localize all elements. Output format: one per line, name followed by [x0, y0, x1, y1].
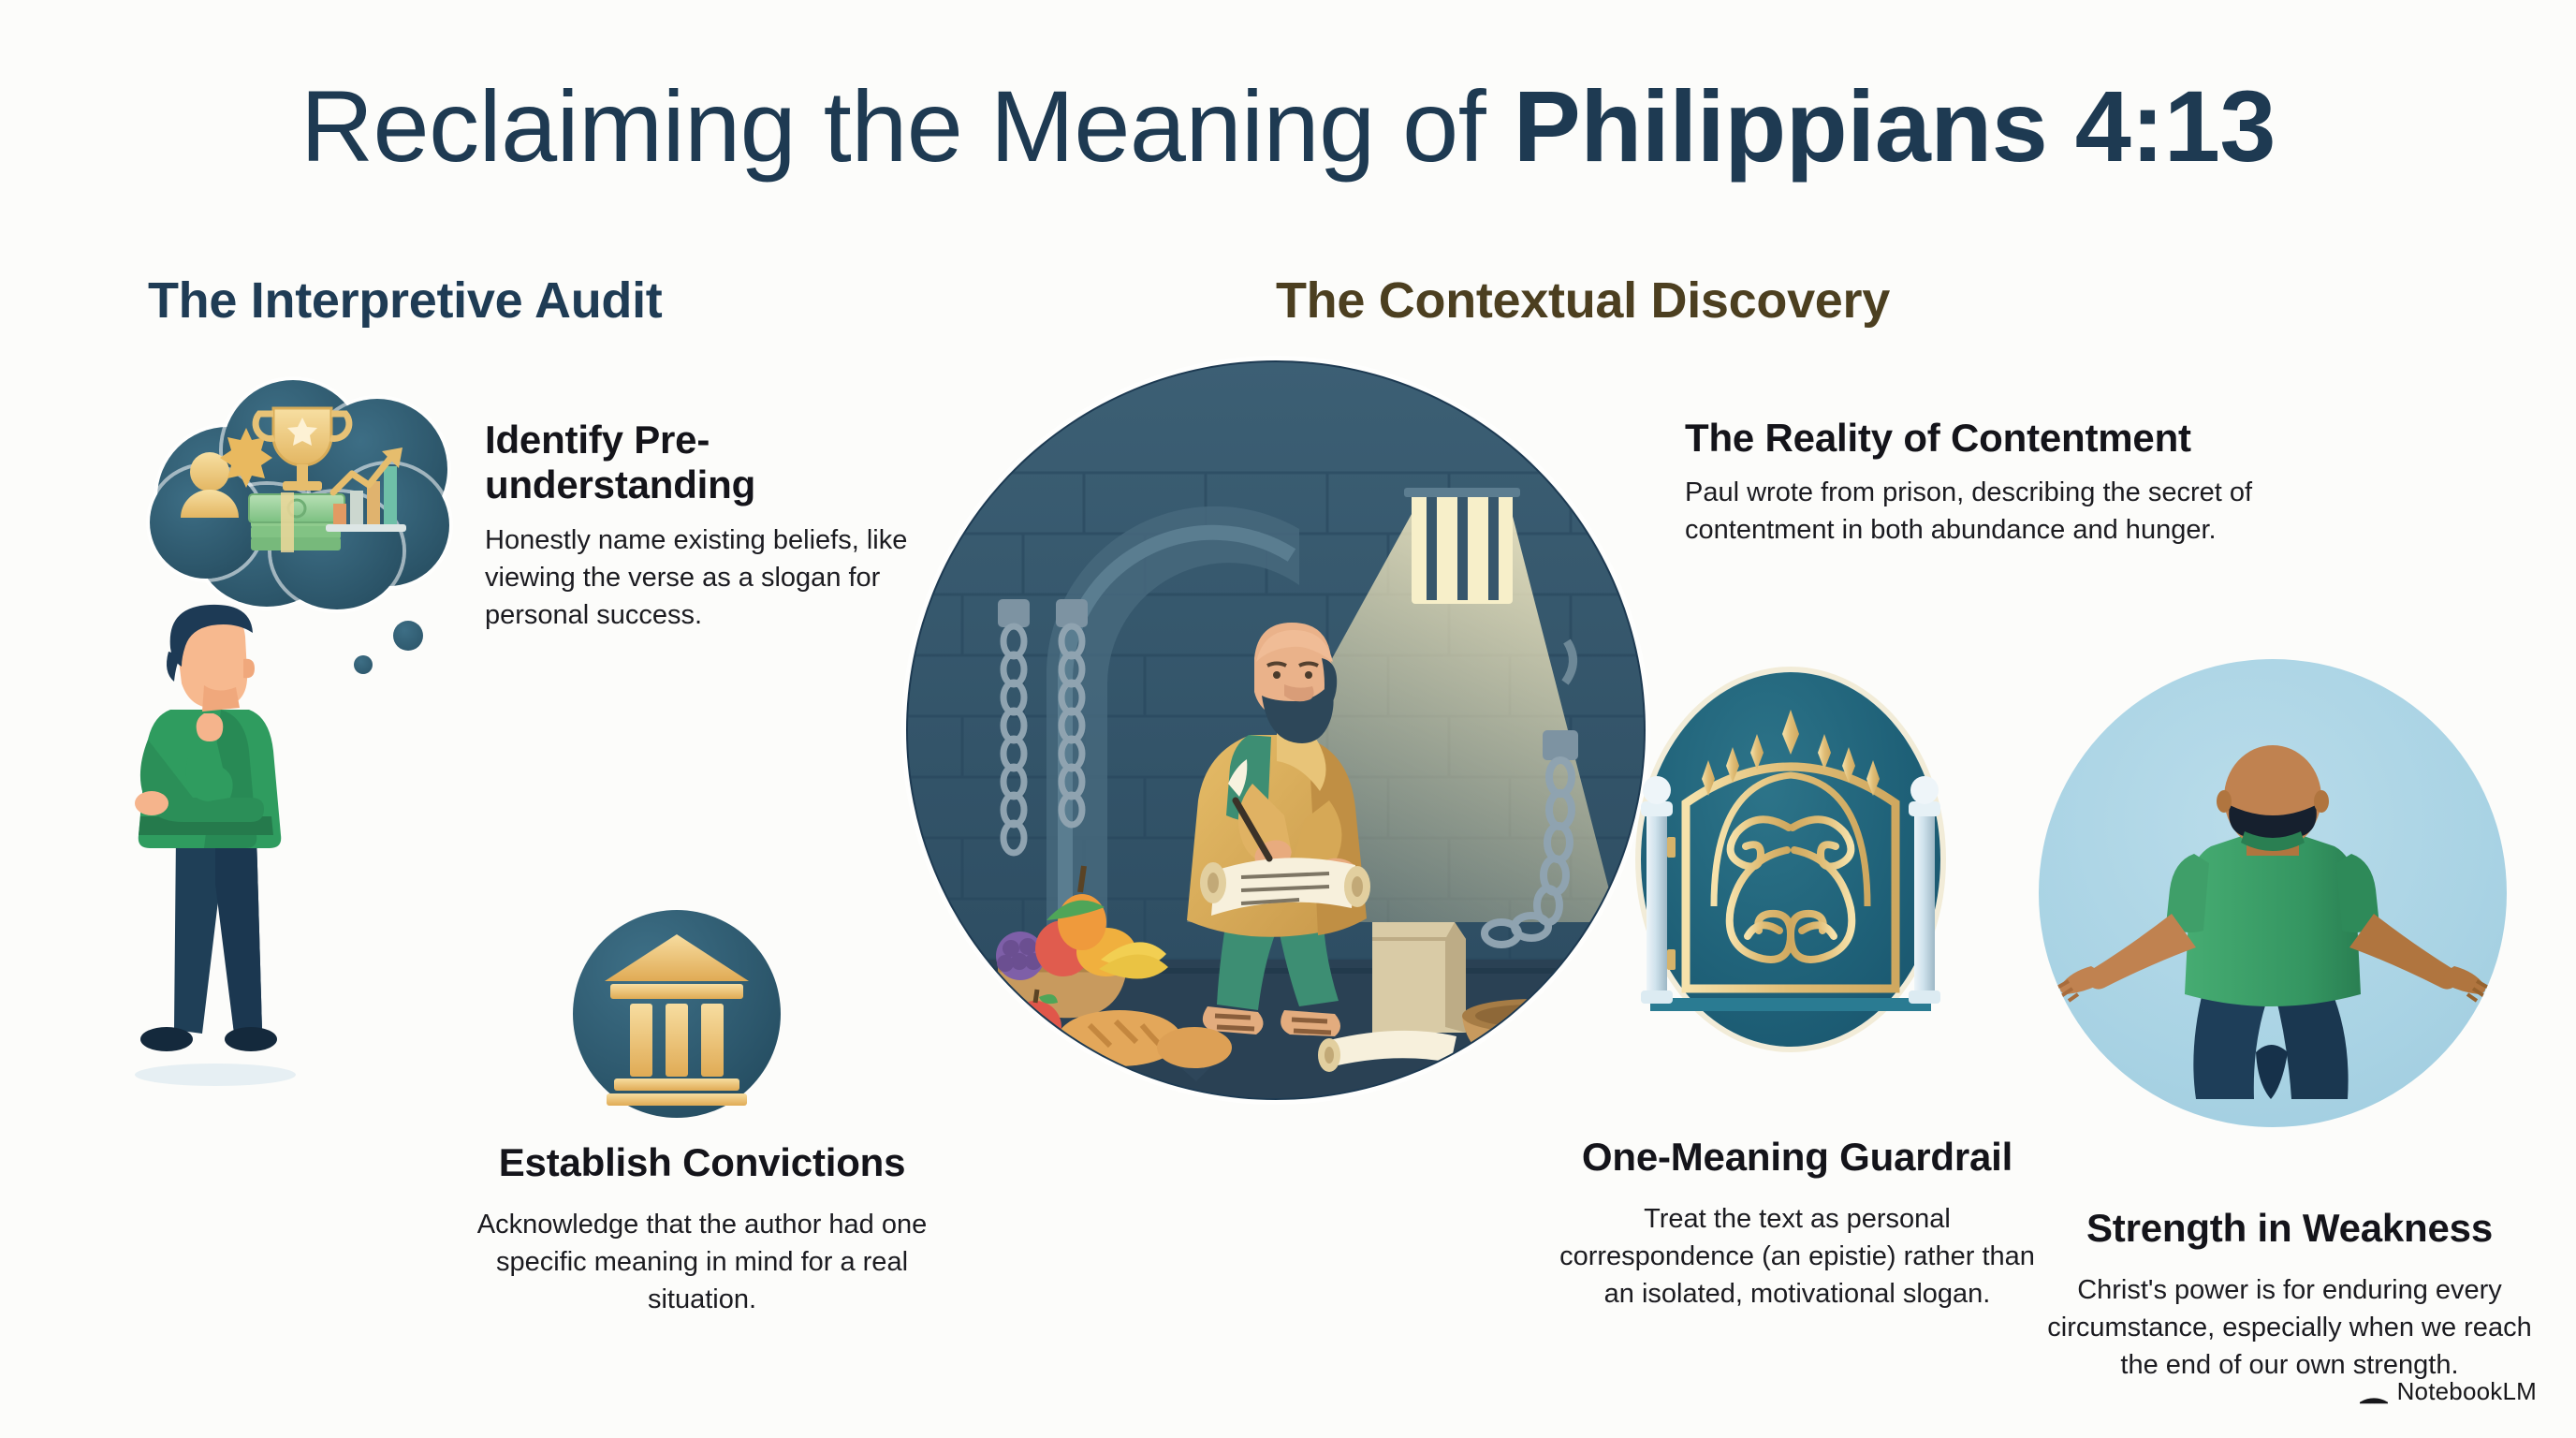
- classical-temple-icon: [573, 910, 781, 1118]
- page-title: Reclaiming the Meaning of Philippians 4:…: [0, 73, 2576, 179]
- block-body: Treat the text as personal correspondenc…: [1554, 1200, 2041, 1313]
- block-identify-pre-understanding: Identify Pre-understanding Honestly name…: [485, 418, 925, 634]
- block-body: Paul wrote from prison, describing the s…: [1685, 474, 2303, 549]
- section-heading-interpretive-audit: The Interpretive Audit: [148, 271, 662, 330]
- thought-bubble-dot-small: [354, 655, 373, 674]
- block-heading: Identify Pre-understanding: [485, 418, 925, 508]
- classical-temple-badge: [573, 910, 781, 1118]
- block-body: Honestly name existing beliefs, like vie…: [485, 521, 925, 634]
- watermark-label: NotebookLM: [2397, 1377, 2537, 1406]
- block-heading: Establish Convictions: [476, 1140, 929, 1185]
- page-title-light: Reclaiming the Meaning of: [300, 69, 1514, 183]
- block-heading: One-Meaning Guardrail: [1554, 1135, 2041, 1180]
- block-body: Christ's power is for enduring every cir…: [2037, 1271, 2542, 1384]
- growth-chart-icon: [326, 448, 406, 532]
- block-heading: Strength in Weakness: [2037, 1206, 2542, 1251]
- block-heading: The Reality of Contentment: [1685, 416, 2303, 461]
- block-establish-convictions: Establish Convictions Acknowledge that t…: [476, 1140, 929, 1318]
- notebooklm-spiral-icon: [2360, 1380, 2388, 1404]
- thought-bubble-icon: [140, 373, 468, 625]
- trophy-icon: [256, 408, 349, 491]
- block-strength-in-weakness: Strength in Weakness Christ's power is f…: [2037, 1206, 2542, 1384]
- block-reality-of-contentment: The Reality of Contentment Paul wrote fr…: [1685, 416, 2303, 549]
- infographic-canvas: Reclaiming the Meaning of Philippians 4:…: [0, 0, 2576, 1438]
- kneeling-man-illustration: [2039, 659, 2507, 1127]
- section-heading-contextual-discovery: The Contextual Discovery: [1276, 271, 1890, 330]
- money-stack-icon: [249, 492, 344, 552]
- thinking-man-figure: [110, 599, 326, 1086]
- notebooklm-watermark: NotebookLM: [2360, 1377, 2537, 1406]
- page-title-bold: Philippians 4:13: [1514, 69, 2276, 183]
- paul-writing-in-prison-illustration: [906, 360, 1646, 1100]
- thought-bubble-dot-large: [393, 621, 423, 651]
- thought-bubble-contents: [140, 373, 468, 625]
- one-meaning-gate-illustration: [1641, 672, 1940, 1047]
- block-body: Acknowledge that the author had one spec…: [476, 1206, 929, 1318]
- block-one-meaning-guardrail: One-Meaning Guardrail Treat the text as …: [1554, 1135, 2041, 1313]
